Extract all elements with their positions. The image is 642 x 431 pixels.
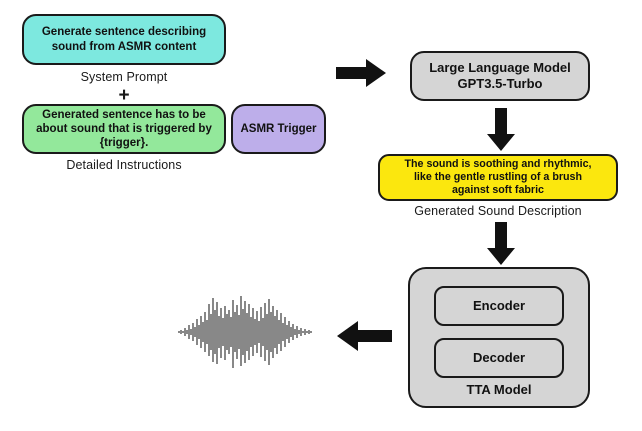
arrow-down-icon xyxy=(486,108,516,152)
plus-operator: + xyxy=(22,86,226,105)
audio-waveform-icon xyxy=(178,292,318,372)
node-large-language-model: Large Language Model GPT3.5-Turbo xyxy=(410,51,590,101)
label-tta-model: TTA Model xyxy=(408,382,590,397)
node-asmr-trigger: ASMR Trigger xyxy=(231,104,326,154)
node-decoder: Decoder xyxy=(434,338,564,378)
arrow-right-icon xyxy=(336,58,388,88)
caption-system-prompt: System Prompt xyxy=(22,70,226,84)
node-detailed-instructions: Generated sentence has to be about sound… xyxy=(22,104,226,154)
arrow-down-icon xyxy=(486,222,516,266)
arrow-left-icon xyxy=(336,320,392,352)
caption-generated-sound-description: Generated Sound Description xyxy=(378,204,618,218)
caption-detailed-instructions: Detailed Instructions xyxy=(12,158,236,172)
node-encoder: Encoder xyxy=(434,286,564,326)
node-system-prompt: Generate sentence describing sound from … xyxy=(22,14,226,65)
diagram-canvas: Generate sentence describing sound from … xyxy=(0,0,642,431)
node-generated-sound-description: The sound is soothing and rhythmic, like… xyxy=(378,154,618,201)
